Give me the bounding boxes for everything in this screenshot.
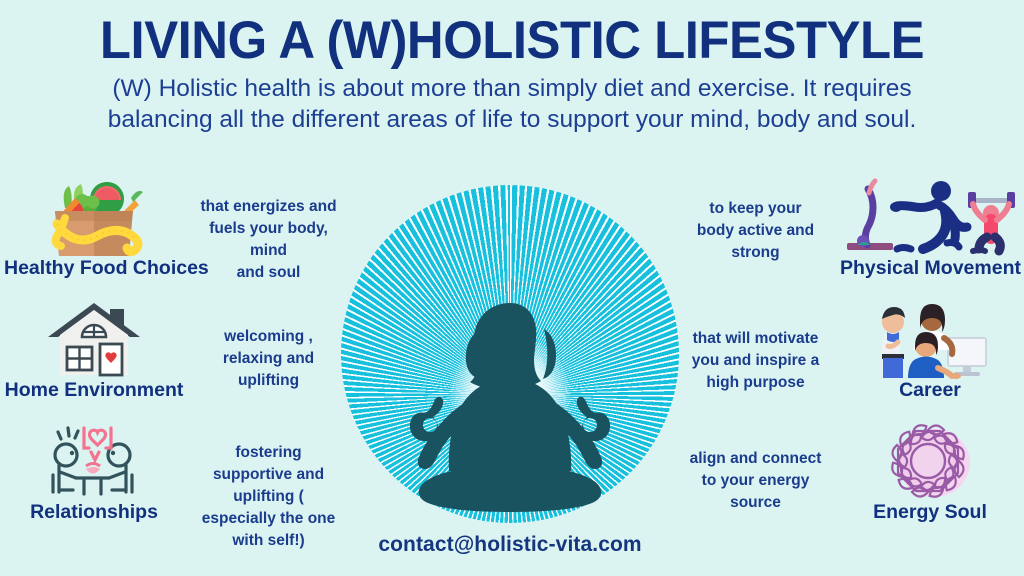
infographic-poster: LIVING A (W)HOLISTIC LIFESTYLE (W) Holis…	[0, 0, 1024, 576]
pillar-relationships: Relationships fostering supportive and u…	[4, 422, 349, 544]
pillar-healthy-food-choices: Healthy Food Choices that energizes and …	[4, 178, 349, 300]
pillar-block: Career	[840, 300, 1020, 401]
pillar-label: Home Environment	[4, 380, 184, 401]
blurb-line: to your energy	[679, 470, 832, 492]
pillar-blurb: align and connect to your energy source	[675, 422, 840, 514]
lotus-mandala-icon	[840, 422, 1020, 502]
meditating-figure-sunburst	[341, 185, 679, 523]
pillar-home-environment: Home Environment welcoming , relaxing an…	[4, 300, 349, 422]
blurb-line: supportive and	[192, 464, 345, 486]
pillar-label: Relationships	[4, 502, 184, 523]
grocery-bag-icon	[4, 178, 184, 258]
pillar-career: Career that will motivate you and inspir…	[675, 300, 1020, 422]
blurb-line: to keep your	[679, 198, 832, 220]
subtitle-line-2: balancing all the different areas of lif…	[32, 104, 992, 135]
blurb-line: body active and	[679, 220, 832, 242]
blurb-line: that energizes and	[192, 196, 345, 218]
athletes-icon	[840, 178, 1020, 258]
pillar-block: Energy Soul	[840, 422, 1020, 523]
pillar-label: Energy Soul	[840, 502, 1020, 523]
contact-email[interactable]: contact@holistic-vita.com	[341, 533, 679, 557]
meditator-silhouette	[341, 185, 679, 523]
blurb-line: and soul	[192, 262, 345, 284]
blurb-line: especially the one	[192, 508, 345, 530]
blurb-line: source	[679, 492, 832, 514]
coworkers-computer-icon	[840, 300, 1020, 380]
blurb-line: fostering	[192, 442, 345, 464]
pillar-label: Physical Movement	[840, 258, 1020, 279]
pillar-block: Healthy Food Choices	[4, 178, 184, 279]
pillar-energy-soul: Energy Soul align and connect to your en…	[675, 422, 1020, 544]
pillar-label: Healthy Food Choices	[4, 258, 184, 279]
pillar-label: Career	[840, 380, 1020, 401]
blurb-line: welcoming ,	[192, 326, 345, 348]
blurb-line: with self!)	[192, 530, 345, 552]
blurb-line: fuels your body, mind	[192, 218, 345, 262]
blurb-line: relaxing and	[192, 348, 345, 370]
page-title: LIVING A (W)HOLISTIC LIFESTYLE	[20, 0, 1003, 67]
blurb-line: strong	[679, 242, 832, 264]
right-pillar-column: Physical Movement to keep your body acti…	[675, 178, 1020, 544]
pillar-block: Relationships	[4, 422, 184, 523]
pillar-blurb: welcoming , relaxing and uplifting	[184, 300, 349, 392]
pillar-block: Physical Movement	[840, 178, 1020, 279]
header: LIVING A (W)HOLISTIC LIFESTYLE (W) Holis…	[0, 0, 1024, 136]
two-people-at-table-icon	[4, 422, 184, 502]
blurb-line: you and inspire a	[679, 350, 832, 372]
subtitle-line-1: (W) Holistic health is about more than s…	[32, 73, 992, 104]
house-icon	[4, 300, 184, 380]
pillar-block: Home Environment	[4, 300, 184, 401]
blurb-line: align and connect	[679, 448, 832, 470]
pillar-blurb: that will motivate you and inspire a hig…	[675, 300, 840, 394]
left-pillar-column: Healthy Food Choices that energizes and …	[4, 178, 349, 544]
pillar-physical-movement: Physical Movement to keep your body acti…	[675, 178, 1020, 300]
blurb-line: uplifting	[192, 370, 345, 392]
page-subtitle: (W) Holistic health is about more than s…	[32, 73, 992, 136]
blurb-line: that will motivate	[679, 328, 832, 350]
pillar-blurb: fostering supportive and uplifting ( esp…	[184, 422, 349, 552]
pillar-blurb: to keep your body active and strong	[675, 178, 840, 264]
blurb-line: uplifting (	[192, 486, 345, 508]
blurb-line: high purpose	[679, 372, 832, 394]
